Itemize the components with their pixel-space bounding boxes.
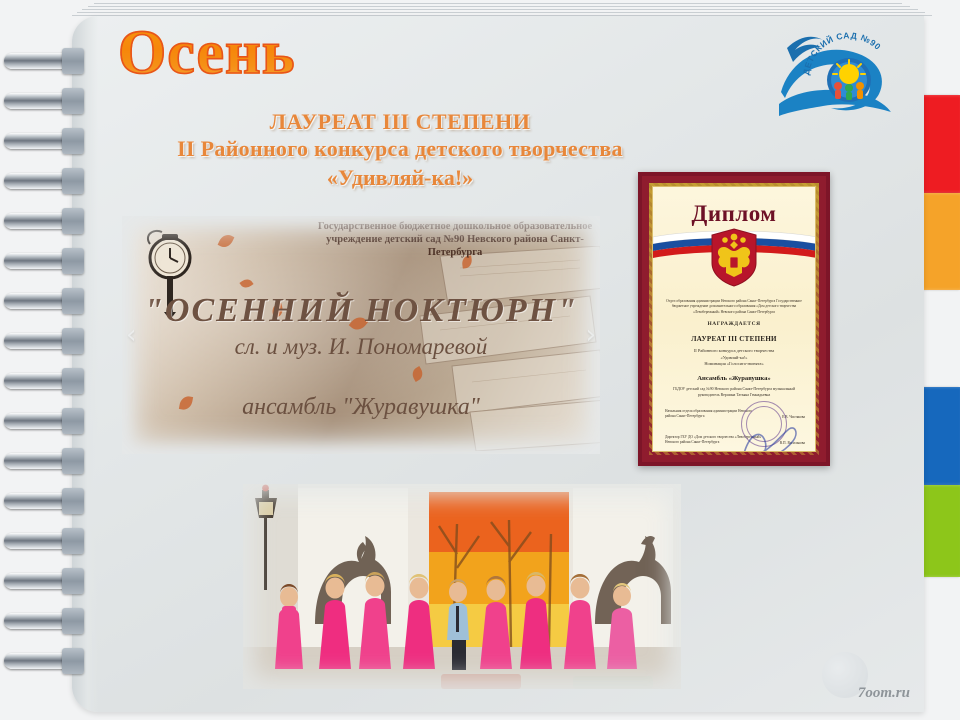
diploma-heading: Диплом [653, 201, 815, 227]
diploma-image[interactable]: Диплом Отде [638, 172, 830, 466]
diploma-handwritten-signature [739, 423, 801, 452]
diploma-contest-name: «Удивляй-ка!» [665, 355, 803, 362]
leaf-icon [218, 232, 235, 250]
diploma-nomination: Номинация «Голосята-звонята» [665, 361, 803, 368]
photo-song-credit: сл. и муз. И. Пономаревой [122, 334, 600, 360]
kindergarten-logo: ДЕТСКИЙ САД №90 [775, 18, 895, 120]
photo-children-choir[interactable] [243, 484, 681, 689]
choir-photo-vignette [243, 484, 681, 689]
diploma-paper: Диплом Отде [652, 186, 816, 452]
diploma-contest: II Районного конкурса детского творчеств… [665, 348, 803, 368]
prev-slide-arrow[interactable]: ‹ [126, 320, 136, 350]
diploma-contest-line: II Районного конкурса детского творчеств… [665, 348, 803, 355]
award-subtitle: ЛАУРЕАТ III СТЕПЕНИ II Районного конкурс… [110, 108, 690, 192]
diploma-ensemble-details: ГБДОУ детский сад №90 Невского района Са… [665, 387, 803, 398]
award-subtitle-line3: «Удивляй-ка!» [110, 163, 690, 192]
diploma-ensemble: Ансамбль «Журавушка» [653, 375, 815, 382]
notebook-page: Осень [72, 16, 924, 712]
award-subtitle-line1: ЛАУРЕАТ III СТЕПЕНИ [110, 108, 690, 135]
diploma-organization: Отдел образования администрации Невского… [663, 299, 805, 315]
page-title: Осень [118, 22, 296, 84]
diploma-laureate-line: ЛАУРЕАТ III СТЕПЕНИ [653, 335, 815, 343]
next-slide-arrow[interactable]: › [586, 320, 596, 350]
russian-coat-of-arms [710, 227, 758, 287]
spiral-binding [0, 0, 115, 720]
logo-graphic: ДЕТСКИЙ САД №90 [775, 18, 895, 120]
watermark-text: 7oom.ru [858, 685, 910, 702]
slide-canvas: Осень [0, 0, 960, 720]
photo-institution-name: Государственное бюджетное дошкольное обр… [310, 220, 600, 259]
leaf-icon [239, 277, 253, 291]
award-subtitle-line2: II Районного конкурса детского творчеств… [110, 135, 690, 163]
diploma-awarded-label: НАГРАЖДАЕТСЯ [653, 321, 815, 327]
photo-song-title: "ОСЕННИЙ НОКТЮРН" [122, 292, 600, 330]
photo-autumn-nocturne[interactable]: Государственное бюджетное дошкольное обр… [122, 216, 600, 454]
photo-ensemble-name: ансамбль "Журавушка" [122, 394, 600, 421]
